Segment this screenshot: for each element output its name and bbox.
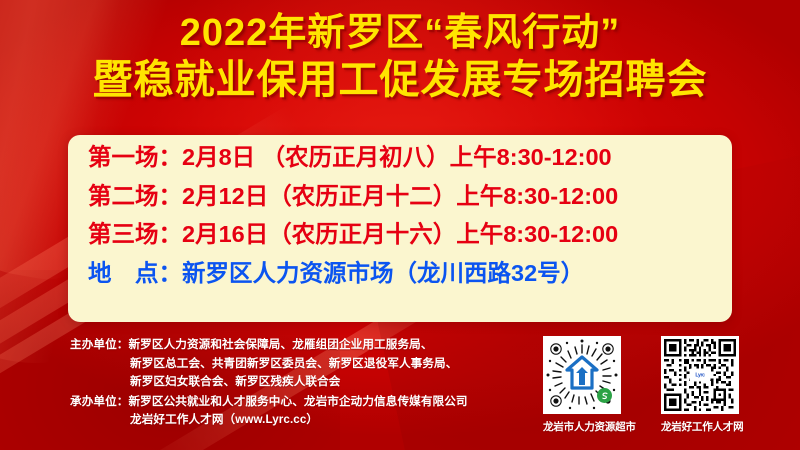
host-line-2: 龙岩好工作人才网（www.Lyrc.cc）	[70, 411, 468, 430]
host-label: 承办单位：	[70, 395, 128, 408]
poster-title-line-2: 暨稳就业保用工促发展专场招聘会	[0, 60, 800, 101]
session-info-panel: 第一场：2月8日 （农历正月初八）上午8:30-12:00 第二场：2月12日（…	[68, 135, 732, 322]
sponsor-block: 主办单位：新罗区人力资源和社会保障局、龙雁组团企业用工服务局、 新罗区总工会、共…	[70, 336, 468, 392]
poster-header: 2022年新罗区“春风行动” 暨稳就业保用工促发展专场招聘会	[0, 14, 800, 101]
qr-item-hr-supermarket[interactable]: 龙岩市人力资源超市	[543, 336, 621, 434]
qr-code-icon[interactable]: Lyrc	[661, 336, 739, 414]
host-block: 承办单位：新罗区公共就业和人才服务中心、龙岩市企动力信息传媒有限公司 龙岩好工作…	[70, 393, 468, 430]
sponsor-label: 主办单位：	[70, 338, 128, 351]
sponsor-line-3: 新罗区妇女联合会、新罗区残疾人联合会	[70, 373, 468, 392]
sponsor-line-1: 主办单位：新罗区人力资源和社会保障局、龙雁组团企业用工服务局、	[70, 336, 468, 355]
recruitment-poster: 2022年新罗区“春风行动” 暨稳就业保用工促发展专场招聘会 第一场：2月8日 …	[0, 0, 800, 450]
session-location-row: 地 点：新罗区人力资源市场（龙川西路32号）	[88, 262, 732, 286]
qr-item-job-site[interactable]: Lyrc 龙岩好工作人才网	[661, 336, 739, 434]
wechat-badge-icon	[597, 388, 612, 403]
session-row-2: 第二场：2月12日（农历正月十二）上午8:30-12:00	[88, 185, 732, 209]
sponsor-text-1: 新罗区人力资源和社会保障局、龙雁组团企业用工服务局、	[128, 338, 432, 351]
qr-caption-hr-supermarket: 龙岩市人力资源超市	[543, 419, 621, 434]
qr-center-logo: Lyrc	[690, 369, 711, 382]
session-row-1: 第一场：2月8日 （农历正月初八）上午8:30-12:00	[88, 146, 732, 170]
host-line-1: 承办单位：新罗区公共就业和人才服务中心、龙岩市企动力信息传媒有限公司	[70, 393, 468, 412]
poster-title-line-1: 2022年新罗区“春风行动”	[0, 14, 800, 53]
host-text-1: 新罗区公共就业和人才服务中心、龙岩市企动力信息传媒有限公司	[128, 395, 467, 408]
wechat-miniprogram-code-icon[interactable]	[543, 336, 621, 414]
organizer-footer: 主办单位：新罗区人力资源和社会保障局、龙雁组团企业用工服务局、 新罗区总工会、共…	[70, 336, 468, 430]
house-arrow-logo-icon	[565, 355, 599, 391]
qr-caption-job-site: 龙岩好工作人才网	[661, 419, 739, 434]
wechat-s-glyph-icon	[600, 391, 610, 401]
qr-code-group: 龙岩市人力资源超市	[543, 336, 739, 434]
sponsor-line-2: 新罗区总工会、共青团新罗区委员会、新罗区退役军人事务局、	[70, 355, 468, 374]
session-row-3: 第三场：2月16日（农历正月十六）上午8:30-12:00	[88, 223, 732, 247]
